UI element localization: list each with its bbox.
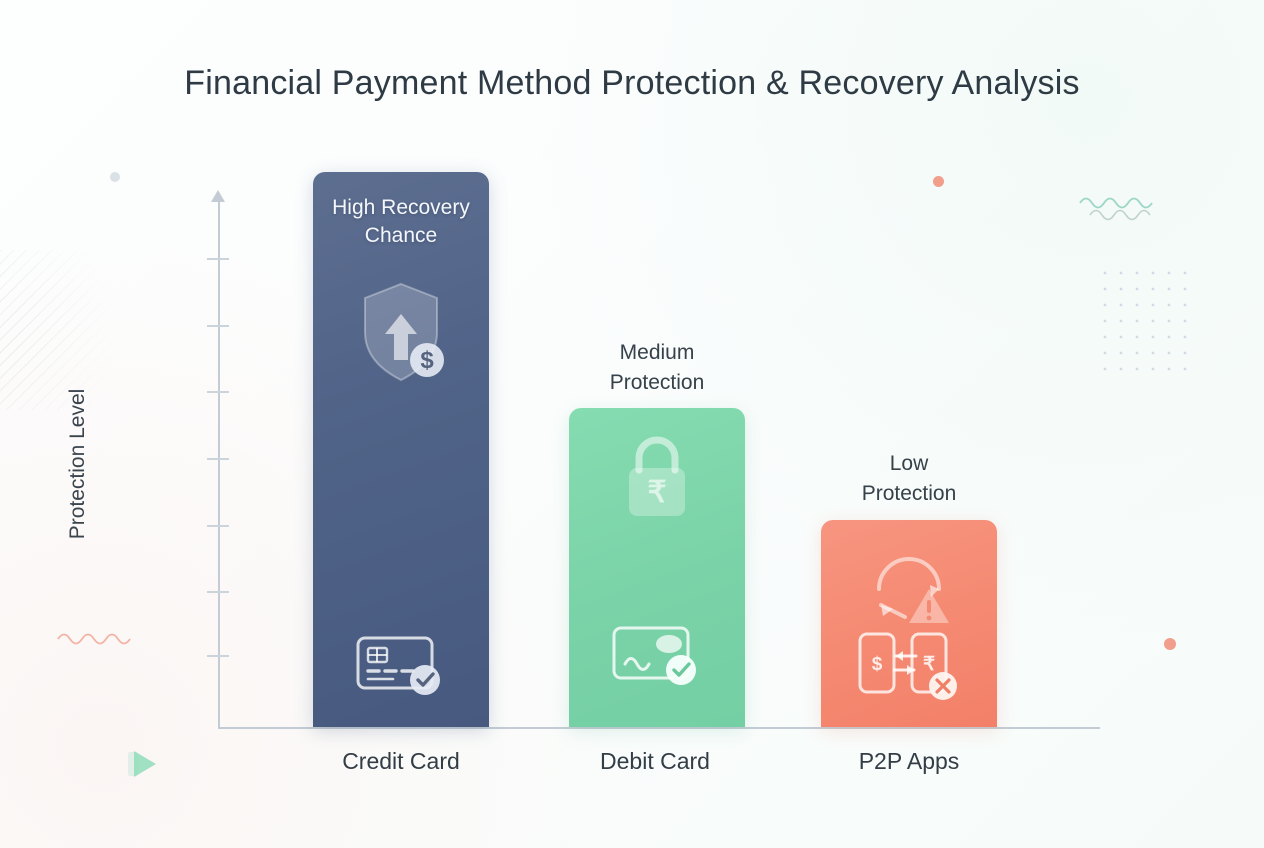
wave-line-teal (1078, 190, 1174, 230)
reversal-arrow-warning-icon (821, 545, 997, 629)
bar-caption-line2: Chance (313, 222, 489, 250)
y-axis-tick (207, 525, 229, 527)
y-axis-tick (207, 655, 229, 657)
wave-line-salmon (56, 626, 148, 650)
bar-caption-line1: Medium (547, 338, 767, 368)
x-axis-line (218, 727, 1100, 729)
dot-grid (1097, 265, 1189, 377)
bar-debit-card[interactable]: ₹ (569, 408, 745, 727)
debit-card-check-icon (569, 622, 745, 688)
shield-arrow-dollar-icon: $ (313, 278, 489, 386)
bar-caption-line1: High Recovery (313, 194, 489, 222)
y-axis-tick (207, 258, 229, 260)
y-axis-line (218, 196, 220, 728)
chart-title: Financial Payment Method Protection & Re… (0, 64, 1264, 103)
bar-caption-debit-card: Medium Protection (547, 338, 767, 398)
decor-dot-salmon-top (933, 176, 944, 187)
y-axis-tick (207, 458, 229, 460)
decor-dot-gray (110, 172, 120, 182)
bar-caption-line1: Low (799, 449, 1019, 479)
bar-p2p-apps[interactable]: $ ₹ (821, 520, 997, 727)
x-label-credit-card: Credit Card (281, 748, 521, 775)
y-axis-tick (207, 591, 229, 593)
bar-caption-line2: Protection (547, 368, 767, 398)
y-axis-tick (207, 325, 229, 327)
svg-text:$: $ (420, 347, 434, 374)
chart-canvas: Financial Payment Method Protection & Re… (0, 0, 1264, 848)
bar-caption-credit-card: High Recovery Chance (313, 194, 489, 249)
bar-caption-line2: Protection (799, 479, 1019, 509)
x-label-debit-card: Debit Card (535, 748, 775, 775)
svg-text:₹: ₹ (647, 476, 666, 509)
credit-card-check-icon (313, 632, 489, 698)
bar-credit-card[interactable]: High Recovery Chance $ (313, 172, 489, 727)
play-triangle-shadow (128, 752, 138, 776)
phone-transfer-blocked-icon: $ ₹ (821, 628, 997, 702)
x-label-p2p-apps: P2P Apps (789, 748, 1029, 775)
y-axis-arrowhead (211, 190, 225, 202)
y-axis-label: Protection Level (66, 334, 90, 594)
play-triangle-icon (134, 751, 156, 777)
bar-caption-p2p-apps: Low Protection (799, 449, 1019, 509)
decor-dot-salmon-right (1164, 638, 1176, 650)
padlock-rupee-icon: ₹ (569, 432, 745, 524)
y-axis-tick (207, 391, 229, 393)
svg-text:$: $ (872, 654, 883, 675)
svg-text:₹: ₹ (923, 654, 935, 675)
